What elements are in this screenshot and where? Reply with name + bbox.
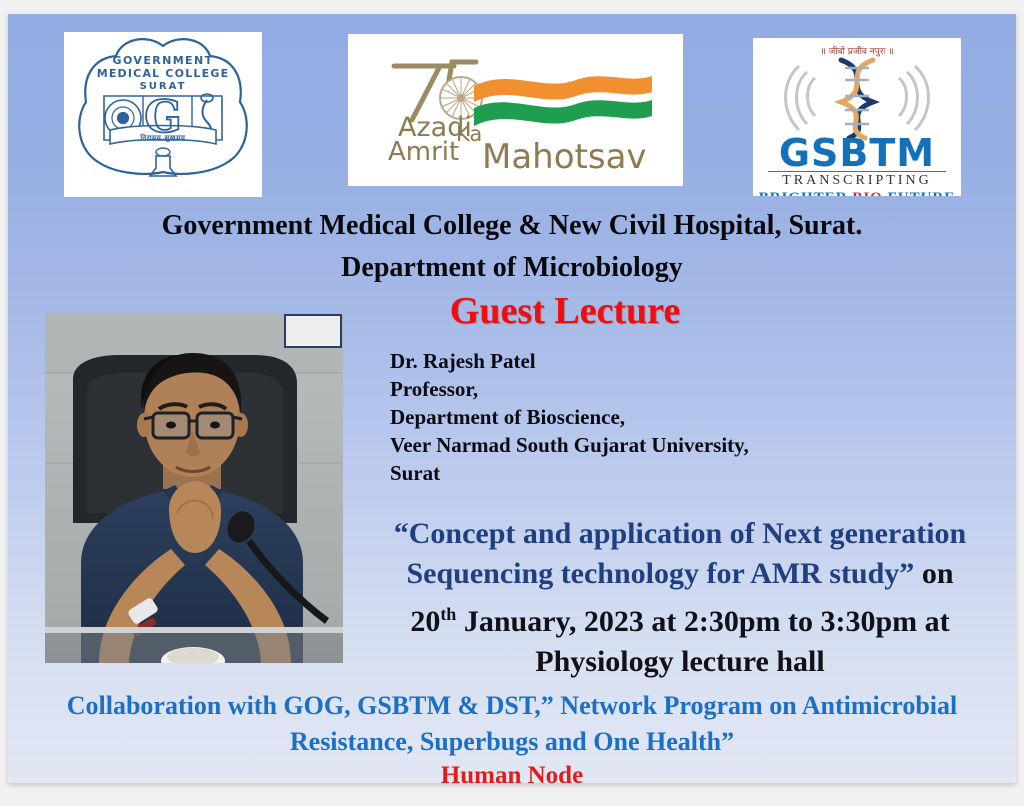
gsbtm-tagline-line2: BRIGHTER BIO FUTURE	[753, 190, 961, 196]
collaboration-note: Collaboration with GOG, GSBTM & DST,” Ne…	[22, 688, 1002, 760]
speaker-photo-illustration	[45, 313, 343, 663]
human-node-label: Human Node	[8, 762, 1016, 783]
speaker-city: Surat	[390, 459, 749, 487]
speaker-university: Veer Narmad South Gujarat University,	[390, 431, 749, 459]
screenshot-canvas: GOVERNMENT MEDICAL COLLEGE SURAT निरामय …	[0, 0, 1024, 806]
svg-text:GOVERNMENT: GOVERNMENT	[113, 54, 214, 67]
lecture-date-day: 20	[410, 605, 440, 638]
speaker-details: Dr. Rajesh Patel Professor, Department o…	[390, 347, 749, 487]
lecture-title-line1: “Concept and application of Next generat…	[394, 517, 967, 550]
lecture-schedule: 20th January, 2023 at 2:30pm to 3:30pm a…	[344, 602, 1016, 682]
gsbtm-tagline-line1: TRANSCRIPTING	[768, 171, 947, 189]
institution-heading: Government Medical College & New Civil H…	[8, 210, 1016, 242]
lecture-date-rest: January, 2023 at 2:30pm to 3:30pm at	[456, 605, 949, 638]
lecture-title-on: on	[922, 557, 954, 590]
azadi-word-ka: Ka	[456, 122, 482, 146]
gsbtm-logo: ॥ जीवो प्रजीव नपुरः ॥	[753, 38, 961, 196]
speaker-designation: Professor,	[390, 375, 749, 403]
speaker-department: Department of Bioscience,	[390, 403, 749, 431]
collaboration-line1: Collaboration with GOG, GSBTM & DST,” Ne…	[67, 691, 958, 720]
svg-text:MEDICAL COLLEGE: MEDICAL COLLEGE	[97, 67, 230, 80]
collaboration-line2: Resistance, Superbugs and One Health”	[290, 727, 734, 756]
gsbtm-tagline-bio: BIO	[852, 190, 883, 196]
lecture-venue: Physiology lecture hall	[535, 645, 824, 678]
gsbtm-acronym: GSBTM	[753, 131, 961, 175]
gsbtm-tagline-future: FUTURE	[883, 190, 955, 196]
azadi-ka-amrit-mahotsav-logo: Azadi Ka Amrit Mahotsav	[348, 34, 683, 186]
department-heading: Department of Microbiology	[8, 252, 1016, 284]
lecture-date-suffix: th	[440, 604, 456, 624]
logo-row: GOVERNMENT MEDICAL COLLEGE SURAT निरामय …	[8, 14, 1016, 214]
poster-slide: GOVERNMENT MEDICAL COLLEGE SURAT निरामय …	[8, 14, 1016, 783]
speaker-name: Dr. Rajesh Patel	[390, 347, 749, 375]
gmc-crest-icon: GOVERNMENT MEDICAL COLLEGE SURAT निरामय …	[64, 32, 262, 197]
gsbtm-tagline-brighter: BRIGHTER	[759, 190, 853, 196]
azadi-word-mahotsav: Mahotsav	[482, 137, 647, 177]
speaker-photograph	[45, 313, 343, 663]
lecture-title: “Concept and application of Next generat…	[344, 514, 1016, 594]
svg-text:SURAT: SURAT	[140, 81, 187, 92]
lecture-title-line2: Sequencing technology for AMR study”	[406, 557, 914, 590]
gmc-crest-logo: GOVERNMENT MEDICAL COLLEGE SURAT निरामय …	[64, 32, 262, 197]
svg-text:G: G	[144, 92, 182, 143]
azadi-word-amrit: Amrit	[388, 137, 459, 167]
